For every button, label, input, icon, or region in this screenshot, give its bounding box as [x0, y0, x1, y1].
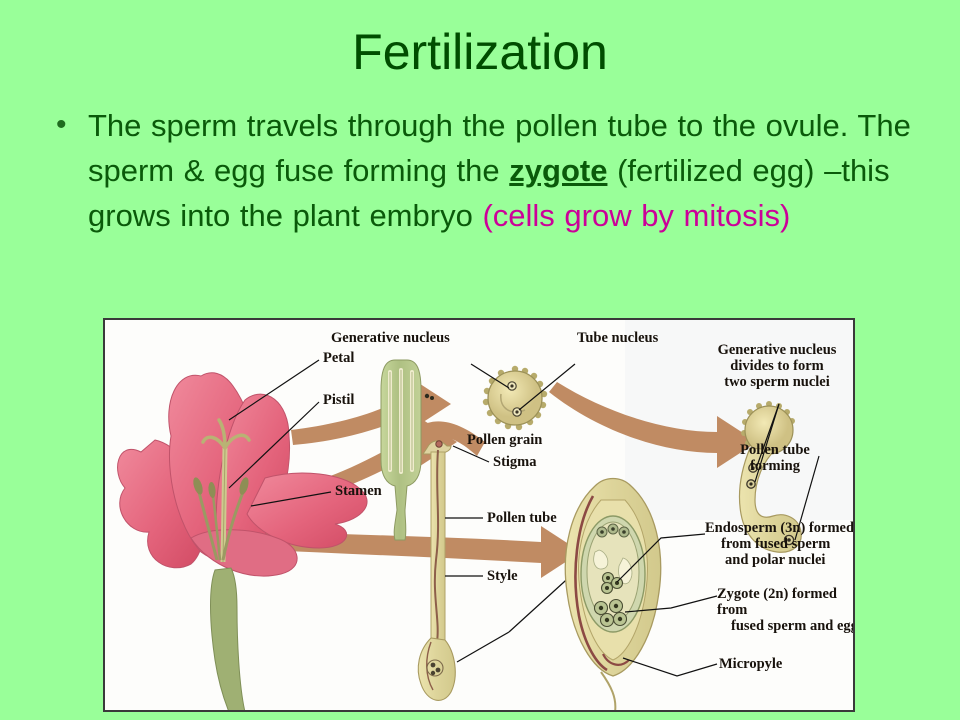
label-pollen-tube: Pollen tube: [487, 510, 557, 527]
body-content: • The sperm travels through the pollen t…: [48, 103, 928, 238]
label-endosperm-line3: and polar nuclei: [705, 552, 825, 568]
label-stamen: Stamen: [335, 483, 382, 500]
label-tube-nucleus: Tube nucleus: [577, 330, 658, 347]
label-pollen-tube-forming: Pollen tubeforming: [713, 442, 837, 474]
label-petal: Petal: [323, 350, 354, 367]
slide-root: Fertilization • The sperm travels throug…: [0, 0, 960, 720]
label-generative-divides-line1: Generative nucleus: [718, 342, 837, 358]
label-micropyle: Micropyle: [719, 656, 782, 673]
bullet-marker: •: [48, 103, 88, 147]
label-pollen-tube-forming-line1: Pollen tube: [740, 442, 810, 458]
label-generative-nucleus: Generative nucleus: [331, 330, 450, 347]
mitosis-note: (cells grow by mitosis): [482, 198, 790, 233]
label-stigma: Stigma: [493, 454, 537, 471]
label-generative-divides-line2: divides to form: [730, 358, 823, 374]
label-endosperm-line1: Endosperm (3n) formed: [705, 520, 854, 536]
label-endosperm: Endosperm (3n) formedfrom fused spermand…: [705, 520, 855, 568]
label-generative-divides: Generative nucleusdivides to formtwo spe…: [697, 342, 855, 390]
label-generative-divides-line3: two sperm nuclei: [724, 374, 830, 390]
bullet-item: • The sperm travels through the pollen t…: [48, 103, 928, 238]
label-zygote-line2: fused sperm and egg: [717, 618, 855, 634]
label-endosperm-line2: from fused sperm: [705, 536, 830, 552]
diagram-canvas: noitanilloP etyhpotemag eht ot nigeb sde…: [105, 320, 853, 710]
label-pollen-grain: Pollen grain: [467, 432, 542, 449]
label-zygote: Zygote (2n) formed fromfused sperm and e…: [717, 586, 855, 634]
label-pistil: Pistil: [323, 392, 354, 409]
page-title: Fertilization: [0, 22, 960, 82]
bullet-text: The sperm travels through the pollen tub…: [88, 103, 928, 238]
label-pollen-tube-forming-line2: forming: [750, 458, 800, 474]
fertilization-diagram: noitanilloP etyhpotemag eht ot nigeb sde…: [103, 318, 855, 712]
label-style: Style: [487, 568, 518, 585]
label-zygote-line1: Zygote (2n) formed from: [717, 586, 837, 618]
zygote-emphasis: zygote: [509, 153, 607, 188]
